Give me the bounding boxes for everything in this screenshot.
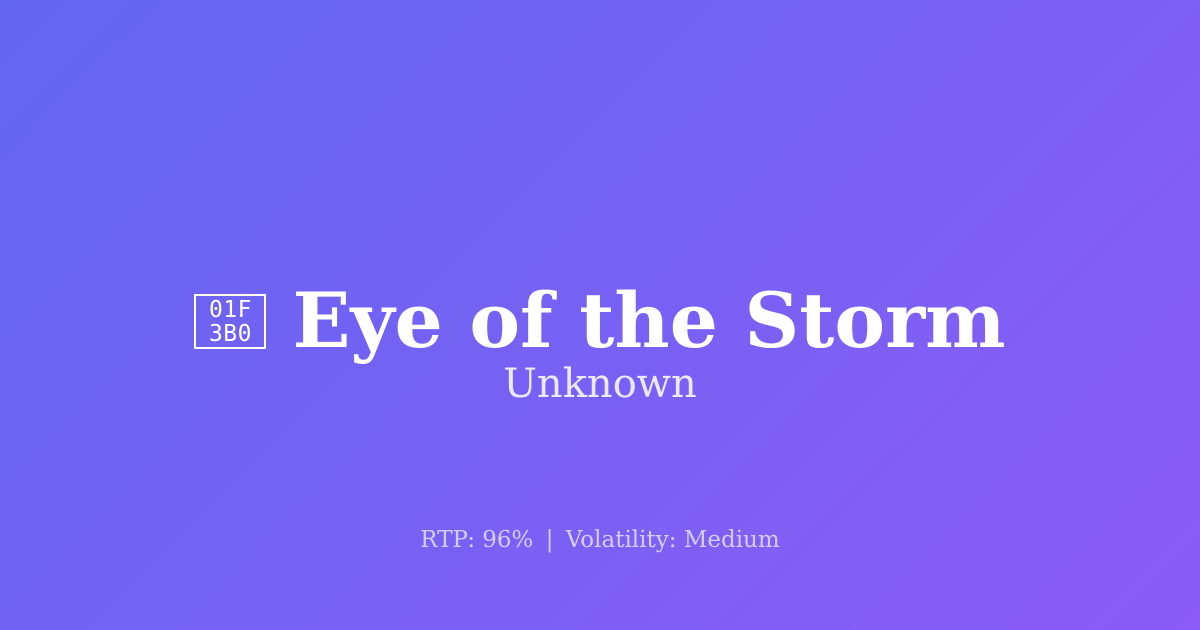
tofu-codepoint-bottom: 3B0	[209, 322, 252, 346]
rtp-value: 96%	[482, 527, 533, 553]
volatility-value: Medium	[684, 527, 780, 553]
og-share-card: 01F 3B0 Eye of the Storm Unknown RTP: 96…	[0, 0, 1200, 630]
slot-machine-icon: 01F 3B0	[194, 294, 266, 349]
stats-separator: |	[541, 527, 559, 553]
game-stats-line: RTP: 96% | Volatility: Medium	[0, 528, 1200, 553]
volatility-label: Volatility:	[566, 527, 677, 553]
provider-name: Unknown	[0, 364, 1200, 404]
rtp-label: RTP:	[420, 527, 475, 553]
game-title: Eye of the Storm	[292, 283, 1005, 359]
tofu-codepoint-top: 01F	[209, 298, 252, 322]
